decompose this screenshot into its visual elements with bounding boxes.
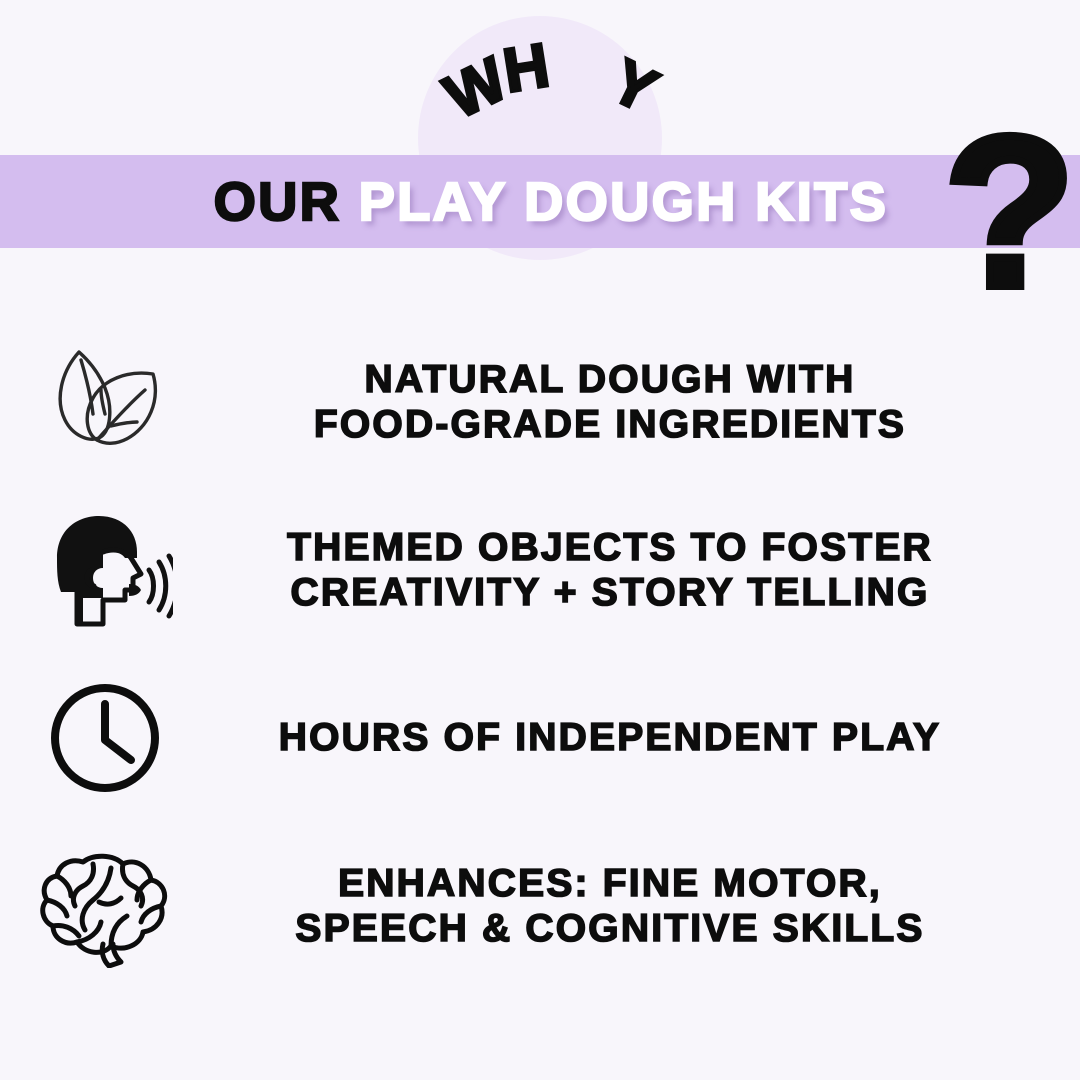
feature-text: HOURS OF INDEPENDENT PLAY [210, 715, 1080, 760]
brain-icon [0, 844, 210, 968]
speaking-head-icon [0, 506, 210, 634]
header: W H Y OUR PLAY DOUGH KITS ? [0, 0, 1080, 300]
feature-line: NATURAL DOUGH WITH [210, 357, 1010, 402]
feature-text: ENHANCES: FINE MOTOR, SPEECH & COGNITIVE… [210, 861, 1080, 951]
feature-line: HOURS OF INDEPENDENT PLAY [210, 715, 1010, 760]
feature-list: NATURAL DOUGH WITH FOOD-GRADE INGREDIENT… [0, 318, 1080, 990]
feature-row: NATURAL DOUGH WITH FOOD-GRADE INGREDIENT… [0, 318, 1080, 486]
feature-line: ENHANCES: FINE MOTOR, [210, 861, 1010, 906]
feature-line: THEMED OBJECTS TO FOSTER [210, 525, 1010, 570]
question-mark: ? [944, 104, 1075, 319]
banner-title: OUR PLAY DOUGH KITS [0, 155, 1080, 248]
feature-row: ENHANCES: FINE MOTOR, SPEECH & COGNITIVE… [0, 822, 1080, 990]
feature-line: SPEECH & COGNITIVE SKILLS [210, 906, 1010, 951]
feature-row: HOURS OF INDEPENDENT PLAY [0, 654, 1080, 822]
feature-line: CREATIVITY + STORY TELLING [210, 570, 1010, 615]
leaves-icon [0, 338, 210, 466]
feature-row: THEMED OBJECTS TO FOSTER CREATIVITY + ST… [0, 486, 1080, 654]
feature-line: FOOD-GRADE INGREDIENTS [210, 402, 1010, 447]
poster-canvas: W H Y OUR PLAY DOUGH KITS ? [0, 0, 1080, 1080]
banner-word-our: OUR [214, 175, 359, 229]
banner-word-play-dough-kits: PLAY DOUGH KITS [359, 175, 889, 229]
clock-icon [0, 676, 210, 800]
feature-text: THEMED OBJECTS TO FOSTER CREATIVITY + ST… [210, 525, 1080, 615]
feature-text: NATURAL DOUGH WITH FOOD-GRADE INGREDIENT… [210, 357, 1080, 447]
